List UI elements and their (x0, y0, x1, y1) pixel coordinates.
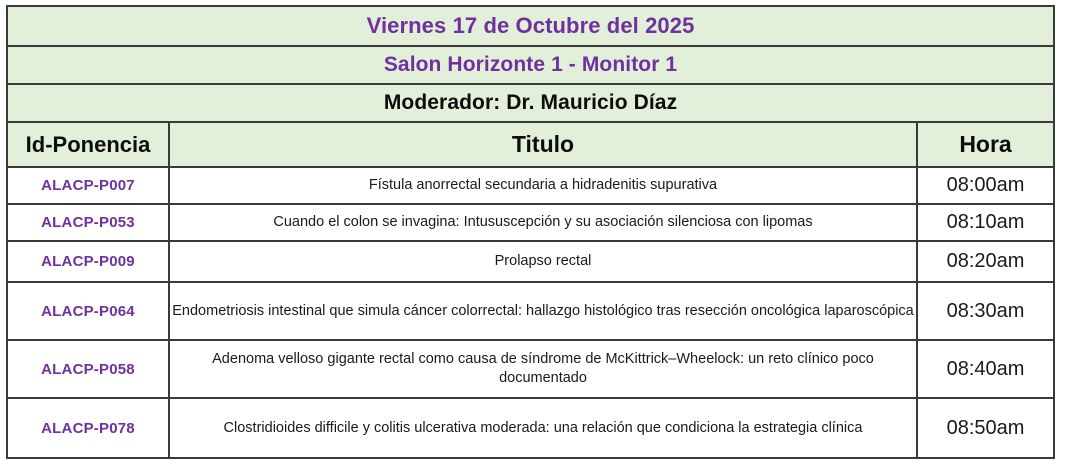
column-header-id: Id-Ponencia (7, 122, 169, 167)
table-row: ALACP-P053 Cuando el colon se invagina: … (7, 204, 1054, 241)
cell-ponencia-title: Clostridioides difficile y colitis ulcer… (169, 398, 917, 458)
table-row: ALACP-P064 Endometriosis intestinal que … (7, 282, 1054, 340)
cell-ponencia-id: ALACP-P078 (7, 398, 169, 458)
cell-ponencia-title: Fístula anorrectal secundaria a hidraden… (169, 167, 917, 204)
cell-ponencia-time: 08:40am (917, 340, 1054, 398)
schedule-sheet: Viernes 17 de Octubre del 2025 Salon Hor… (0, 0, 1080, 466)
session-date: Viernes 17 de Octubre del 2025 (7, 6, 1054, 46)
table-header: Viernes 17 de Octubre del 2025 Salon Hor… (7, 6, 1054, 167)
column-header-row: Id-Ponencia Titulo Hora (7, 122, 1054, 167)
cell-ponencia-title: Adenoma velloso gigante rectal como caus… (169, 340, 917, 398)
cell-ponencia-time: 08:10am (917, 204, 1054, 241)
cell-ponencia-title: Endometriosis intestinal que simula cánc… (169, 282, 917, 340)
table-row: ALACP-P009 Prolapso rectal 08:20am (7, 241, 1054, 282)
cell-ponencia-time: 08:30am (917, 282, 1054, 340)
session-moderator: Moderador: Dr. Mauricio Díaz (7, 84, 1054, 122)
cell-ponencia-id: ALACP-P064 (7, 282, 169, 340)
cell-ponencia-id: ALACP-P007 (7, 167, 169, 204)
cell-ponencia-time: 08:20am (917, 241, 1054, 282)
schedule-table: Viernes 17 de Octubre del 2025 Salon Hor… (6, 5, 1055, 459)
table-row: ALACP-P007 Fístula anorrectal secundaria… (7, 167, 1054, 204)
column-header-time: Hora (917, 122, 1054, 167)
cell-ponencia-title: Prolapso rectal (169, 241, 917, 282)
banner-row-date: Viernes 17 de Octubre del 2025 (7, 6, 1054, 46)
cell-ponencia-id: ALACP-P009 (7, 241, 169, 282)
table-row: ALACP-P058 Adenoma velloso gigante recta… (7, 340, 1054, 398)
cell-ponencia-id: ALACP-P058 (7, 340, 169, 398)
session-room: Salon Horizonte 1 - Monitor 1 (7, 46, 1054, 84)
column-header-title: Titulo (169, 122, 917, 167)
table-body: ALACP-P007 Fístula anorrectal secundaria… (7, 167, 1054, 458)
cell-ponencia-title: Cuando el colon se invagina: Intususcepc… (169, 204, 917, 241)
cell-ponencia-id: ALACP-P053 (7, 204, 169, 241)
cell-ponencia-time: 08:50am (917, 398, 1054, 458)
banner-row-room: Salon Horizonte 1 - Monitor 1 (7, 46, 1054, 84)
banner-row-moderator: Moderador: Dr. Mauricio Díaz (7, 84, 1054, 122)
cell-ponencia-time: 08:00am (917, 167, 1054, 204)
table-row: ALACP-P078 Clostridioides difficile y co… (7, 398, 1054, 458)
